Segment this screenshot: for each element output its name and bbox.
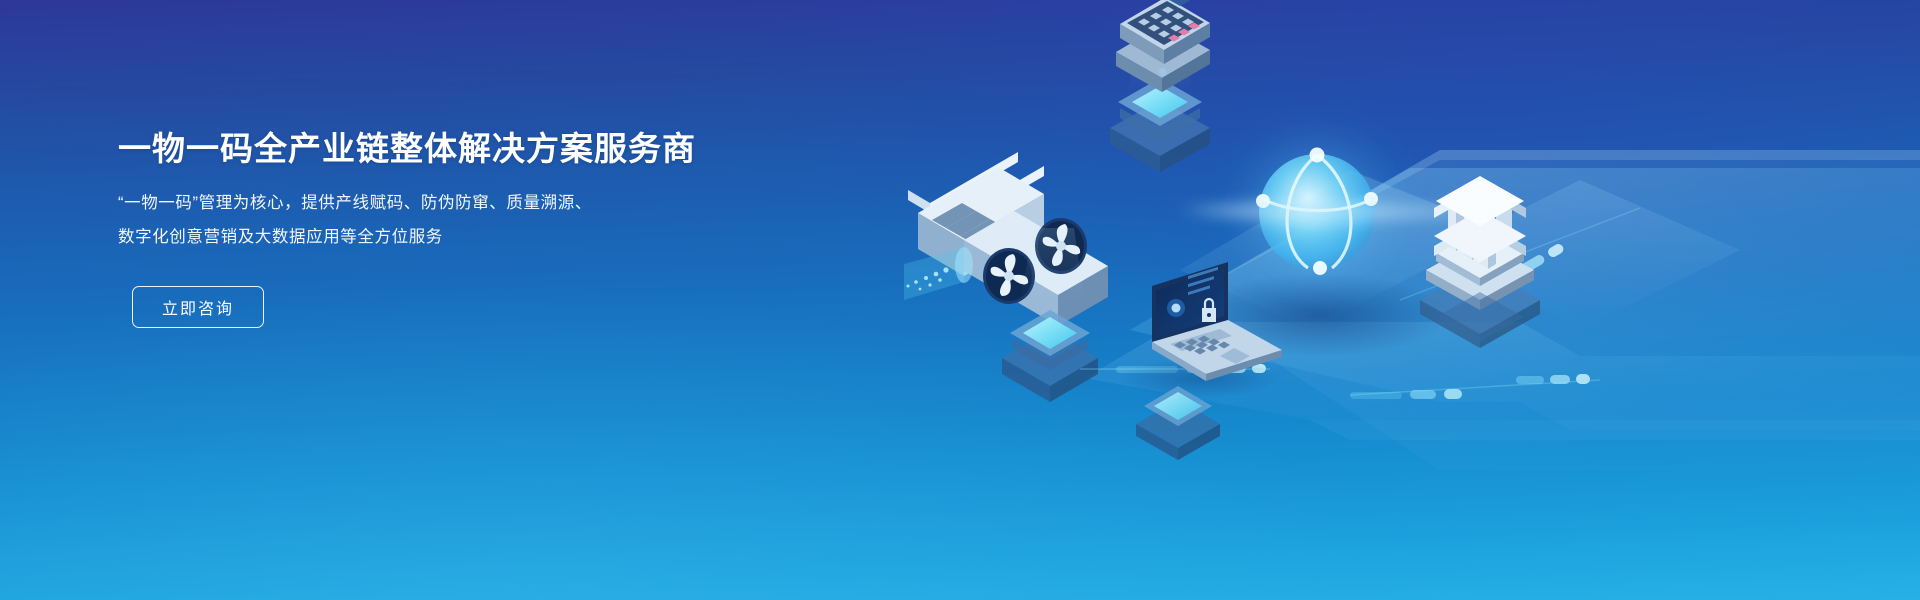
- pedestal-node-top: [1110, 78, 1210, 172]
- hero-copy: 一物一码全产业链整体解决方案服务商 “一物一码”管理为核心，提供产线赋码、防伪防…: [118, 128, 758, 328]
- data-stream-dashes: [1080, 208, 1640, 399]
- bank-building: [1420, 176, 1540, 348]
- laptop-secure: [1120, 262, 1282, 398]
- isometric-illustration: [880, 0, 1920, 600]
- hero-subtitle-line-1: “一物一码”管理为核心，提供产线赋码、防伪防窜、质量溯源、: [118, 186, 758, 220]
- gpu-fan-device: [904, 152, 1108, 326]
- hero-banner: 一物一码全产业链整体解决方案服务商 “一物一码”管理为核心，提供产线赋码、防伪防…: [0, 0, 1920, 600]
- light-beams: [1180, 170, 1740, 330]
- platform-plate: [1085, 150, 1920, 470]
- beam-left-node: [1020, 228, 1084, 300]
- hero-subtitle-line-2: 数字化创意营销及大数据应用等全方位服务: [118, 220, 758, 254]
- network-sphere: [1180, 116, 1480, 357]
- hero-subtitle: “一物一码”管理为核心，提供产线赋码、防伪防窜、质量溯源、 数字化创意营销及大数…: [118, 186, 758, 254]
- consult-now-button[interactable]: 立即咨询: [132, 286, 264, 328]
- pedestal-node-laptop: [1136, 386, 1220, 460]
- pos-terminal: [1116, 0, 1216, 92]
- background-glow-top-right: [672, 0, 1920, 360]
- pedestal-node-left: [1002, 310, 1098, 402]
- pedestal-node-bank: [1436, 292, 1524, 342]
- beam-pos: [1128, 18, 1192, 92]
- airflow-cone: [904, 247, 973, 300]
- page-title: 一物一码全产业链整体解决方案服务商: [118, 128, 758, 169]
